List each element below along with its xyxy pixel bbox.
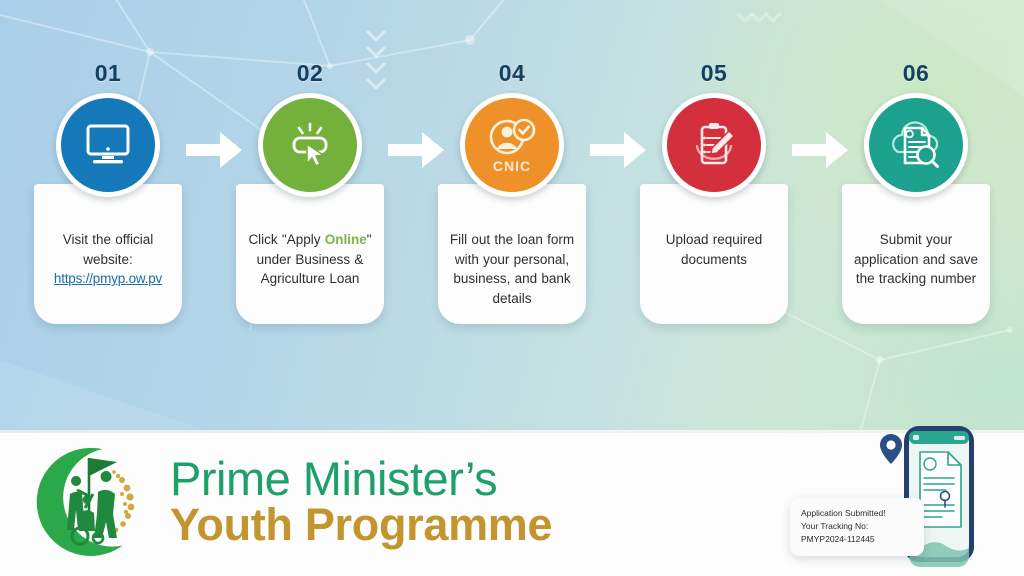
step-3-text: Fill out the loan form with your persona…	[447, 230, 577, 308]
step-1-text-plain: Visit the official website:	[63, 232, 154, 267]
brand-text: Prime Minister’s Youth Programme	[170, 455, 552, 550]
step-4-circle[interactable]	[662, 93, 766, 197]
step-1-number: 01	[28, 62, 188, 85]
steps-row: 01 Visit the official website:	[0, 0, 1024, 432]
step-2-circle[interactable]	[258, 93, 362, 197]
id-card-verified-icon	[486, 118, 538, 158]
step-3[interactable]: 04 CNIC Fill out the	[432, 62, 592, 189]
step-2-accent-word: Online	[325, 232, 367, 247]
toast-tracking-number: PMYP2024-112445	[801, 533, 915, 546]
step-3-number: 04	[432, 62, 592, 85]
step-2-card: Click "Apply Online" under Business & Ag…	[236, 184, 384, 324]
step-5-card: Submit your application and save the tra…	[842, 184, 990, 324]
brand-title-primary: Prime Minister’s	[170, 455, 552, 503]
location-pin-icon	[880, 434, 902, 464]
step-1-card: Visit the official website: https://pmyp…	[34, 184, 182, 324]
brand-title-secondary: Youth Programme	[170, 501, 552, 550]
toast-line-2: Your Tracking No:	[801, 520, 915, 533]
step-4[interactable]: 05	[634, 62, 794, 189]
step-5-circle-wrap	[836, 85, 996, 189]
step-5-number: 06	[836, 62, 996, 85]
step-1-website-link[interactable]: https://pmyp.ow.pv	[54, 269, 162, 289]
step-2-text: Click "Apply Online" under Business & Ag…	[245, 230, 375, 289]
step-3-circle-wrap: CNIC	[432, 85, 592, 189]
footer-banner: Prime Minister’s Youth Programme Applica	[0, 430, 1024, 576]
step-5[interactable]: 06	[836, 62, 996, 189]
step-3-icon-label: CNIC	[493, 159, 531, 173]
clipboard-upload-icon	[687, 119, 741, 171]
step-5-text: Submit your application and save the tra…	[851, 230, 981, 289]
step-3-circle[interactable]: CNIC	[460, 93, 564, 197]
pmyp-crescent-flag-logo	[30, 442, 152, 562]
step-2[interactable]: 02 Click "Apply O	[230, 62, 390, 189]
click-cursor-icon	[283, 120, 337, 170]
document-search-cloud-icon	[888, 120, 944, 170]
brand-lockup: Prime Minister’s Youth Programme	[30, 442, 552, 562]
monitor-icon	[82, 122, 134, 168]
step-5-circle[interactable]	[864, 93, 968, 197]
step-2-number: 02	[230, 62, 390, 85]
step-4-circle-wrap	[634, 85, 794, 189]
step-1[interactable]: 01 Visit the official website:	[28, 62, 188, 189]
tracking-toast: Application Submitted! Your Tracking No:…	[790, 498, 924, 556]
step-1-circle-wrap	[28, 85, 188, 189]
toast-line-1: Application Submitted!	[801, 507, 915, 520]
step-1-text: Visit the official website: https://pmyp…	[43, 230, 173, 289]
infographic-panel: 01 Visit the official website:	[0, 0, 1024, 432]
step-1-circle[interactable]	[56, 93, 160, 197]
step-3-card: Fill out the loan form with your persona…	[438, 184, 586, 324]
step-4-card: Upload required documents	[640, 184, 788, 324]
step-2-text-lead: Click "Apply	[248, 232, 324, 247]
step-4-text: Upload required documents	[649, 230, 779, 269]
step-4-number: 05	[634, 62, 794, 85]
step-2-circle-wrap	[230, 85, 390, 189]
